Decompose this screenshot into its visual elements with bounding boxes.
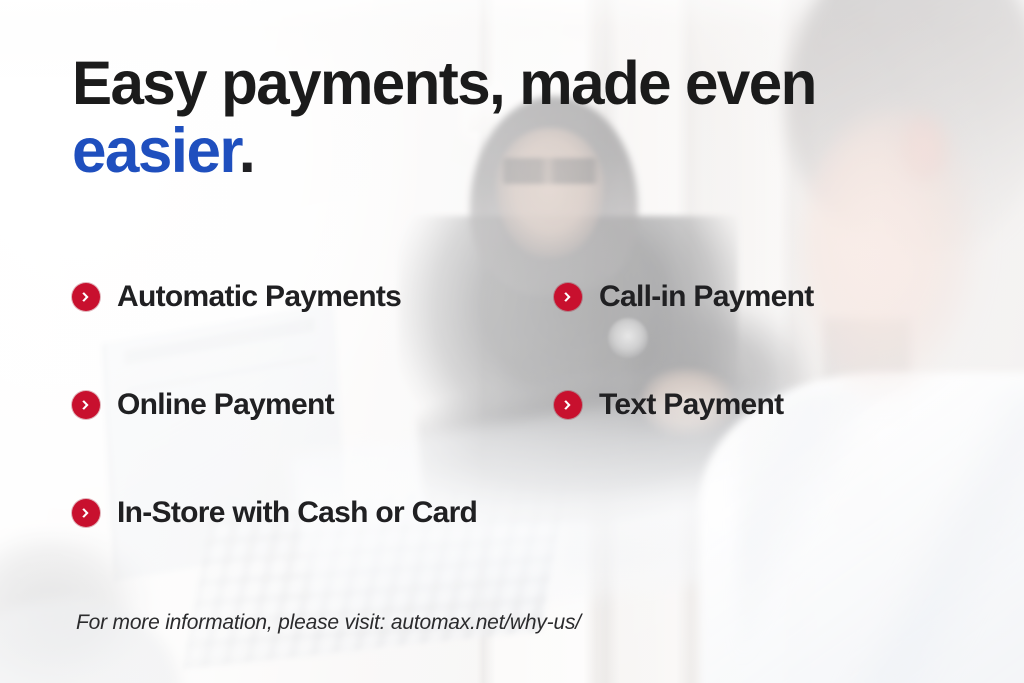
feature-item-online-payment[interactable]: Online Payment xyxy=(72,390,554,420)
feature-item-text-payment[interactable]: Text Payment xyxy=(554,390,972,420)
feature-row: Automatic Payments Call-in Payment xyxy=(72,282,972,390)
headline-block: Easy payments, made even easier. xyxy=(72,54,952,182)
feature-label: In-Store with Cash or Card xyxy=(117,498,477,528)
feature-label: Call-in Payment xyxy=(599,282,814,312)
headline-period: . xyxy=(239,116,255,186)
feature-label: Text Payment xyxy=(599,390,783,420)
feature-row: In-Store with Cash or Card xyxy=(72,498,972,606)
promo-banner: Easy payments, made even easier. Automat… xyxy=(0,0,1024,683)
chevron-right-circle-icon xyxy=(72,283,100,311)
feature-item-call-in-payment[interactable]: Call-in Payment xyxy=(554,282,972,312)
payment-options-list: Automatic Payments Call-in Payment xyxy=(72,282,972,606)
feature-row: Online Payment Text Payment xyxy=(72,390,972,498)
banner-content: Easy payments, made even easier. Automat… xyxy=(0,0,1024,683)
feature-label: Online Payment xyxy=(117,390,334,420)
feature-label: Automatic Payments xyxy=(117,282,401,312)
headline-line-1: Easy payments, made even xyxy=(72,54,939,113)
chevron-right-circle-icon xyxy=(554,391,582,419)
feature-item-in-store-cash-or-card[interactable]: In-Store with Cash or Card xyxy=(72,498,554,528)
feature-item-automatic-payments[interactable]: Automatic Payments xyxy=(72,282,554,312)
chevron-right-circle-icon xyxy=(72,391,100,419)
footnote-text: For more information, please visit: auto… xyxy=(76,611,581,635)
chevron-right-circle-icon xyxy=(554,283,582,311)
headline-line-2: easier. xyxy=(72,121,939,182)
chevron-right-circle-icon xyxy=(72,499,100,527)
headline-accent-word: easier xyxy=(72,116,239,186)
